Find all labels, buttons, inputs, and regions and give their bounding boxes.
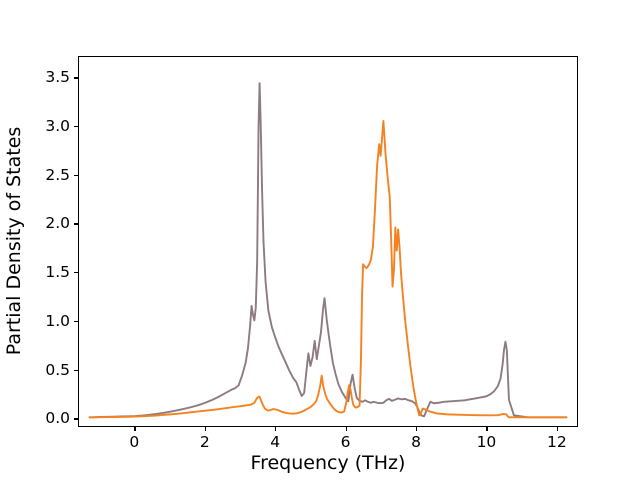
series-line-series_2 (90, 121, 567, 417)
x-tick-mark (134, 427, 135, 431)
y-tick-mark (74, 223, 78, 224)
y-tick-mark (74, 370, 78, 371)
x-tick-mark (205, 427, 206, 431)
x-tick-mark (557, 427, 558, 431)
y-tick-mark (74, 418, 78, 419)
x-tick-mark (416, 427, 417, 431)
x-tick-label: 6 (341, 433, 351, 451)
x-tick-label: 12 (547, 433, 567, 451)
y-tick-label: 3.5 (45, 68, 70, 86)
plot-axes (78, 56, 578, 427)
y-tick-mark (74, 77, 78, 78)
figure: 024681012 0.00.51.01.52.02.53.03.5 Frequ… (0, 0, 640, 480)
y-tick-label: 0.5 (45, 361, 70, 379)
x-tick-mark (275, 427, 276, 431)
x-tick-mark (486, 427, 487, 431)
x-tick-label: 8 (411, 433, 421, 451)
y-tick-label: 2.5 (45, 166, 70, 184)
y-tick-mark (74, 175, 78, 176)
y-tick-mark (74, 126, 78, 127)
y-tick-label: 2.0 (45, 214, 70, 232)
y-tick-label: 1.5 (45, 263, 70, 281)
x-tick-mark (346, 427, 347, 431)
y-tick-label: 1.0 (45, 312, 70, 330)
y-tick-label: 3.0 (45, 117, 70, 135)
plot-svg (79, 57, 577, 426)
y-axis-label: Partial Density of States (3, 127, 25, 356)
x-tick-label: 2 (200, 433, 210, 451)
y-tick-label: 0.0 (45, 409, 70, 427)
y-tick-mark (74, 272, 78, 273)
series-line-series_1 (90, 83, 567, 417)
x-tick-label: 4 (270, 433, 280, 451)
x-tick-label: 10 (477, 433, 497, 451)
y-tick-mark (74, 321, 78, 322)
x-axis-label: Frequency (THz) (251, 452, 406, 474)
x-tick-label: 0 (129, 433, 139, 451)
